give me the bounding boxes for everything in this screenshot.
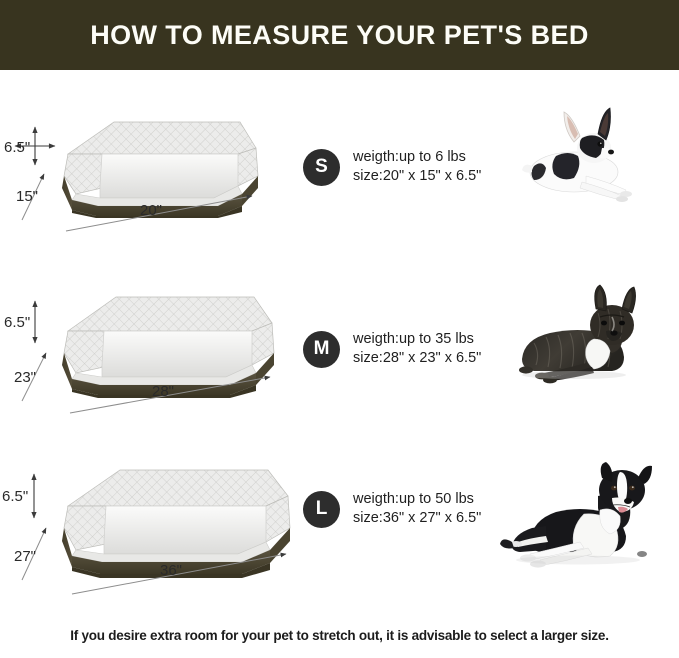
- dimension-label-height-medium: 6.5": [4, 314, 30, 331]
- border-collie-large-dog-photo: [500, 450, 676, 578]
- dimension-label-height-small: 6.5": [4, 139, 30, 156]
- spec-size-small: size:20" x 15" x 6.5": [353, 167, 481, 186]
- spec-size-large: size:36" x 27" x 6.5": [353, 509, 481, 528]
- spec-size-medium: size:28" x 23" x 6.5": [353, 349, 481, 368]
- footer-note: If you desire extra room for your pet to…: [0, 628, 679, 643]
- dimension-label-width-large: 36": [160, 562, 182, 579]
- dimension-label-depth-small: 15": [16, 188, 38, 205]
- dimension-label-height-large: 6.5": [2, 488, 28, 505]
- bed-illustration-block-medium: 6.5" 23" 28": [0, 275, 300, 427]
- spec-weight-medium: weigth:up to 35 lbs: [353, 330, 481, 349]
- spec-block-medium: M weigth:up to 35 lbs size:28" x 23" x 6…: [303, 330, 481, 368]
- spec-text-medium: weigth:up to 35 lbs size:28" x 23" x 6.5…: [353, 330, 481, 368]
- size-badge-large: L: [303, 491, 340, 528]
- spec-weight-small: weigth:up to 6 lbs: [353, 148, 481, 167]
- dimension-label-width-medium: 28": [152, 383, 174, 400]
- spec-text-large: weigth:up to 50 lbs size:36" x 27" x 6.5…: [353, 490, 481, 528]
- dimension-label-width-small: 20": [140, 202, 162, 219]
- size-row-large: 6.5" 27" 36" L weigth:up to 50 lbs size:…: [0, 448, 679, 608]
- bed-illustration-block-large: 6.5" 27" 36": [0, 448, 300, 608]
- spec-block-small: S weigth:up to 6 lbs size:20" x 15" x 6.…: [303, 148, 481, 186]
- page-title: HOW TO MEASURE YOUR PET'S BED: [90, 20, 589, 51]
- size-row-medium: 6.5" 23" 28" M weigth:up to 35 lbs size:…: [0, 275, 679, 427]
- french-bulldog-medium-dog-photo: [508, 283, 676, 385]
- spec-text-small: weigth:up to 6 lbs size:20" x 15" x 6.5": [353, 148, 481, 186]
- chihuahua-small-dog-photo: [512, 104, 672, 204]
- spec-weight-large: weigth:up to 50 lbs: [353, 490, 481, 509]
- dimension-label-depth-large: 27": [14, 548, 36, 565]
- spec-block-large: L weigth:up to 50 lbs size:36" x 27" x 6…: [303, 490, 481, 528]
- bed-illustration-block-small: 6.5" 15" 20": [0, 96, 300, 246]
- header-bar: HOW TO MEASURE YOUR PET'S BED: [0, 0, 679, 70]
- size-badge-small: S: [303, 149, 340, 186]
- size-row-small: 6.5" 15" 20" S weigth:up to 6 lbs size:2…: [0, 96, 679, 246]
- dimension-label-depth-medium: 23": [14, 369, 36, 386]
- size-badge-medium: M: [303, 331, 340, 368]
